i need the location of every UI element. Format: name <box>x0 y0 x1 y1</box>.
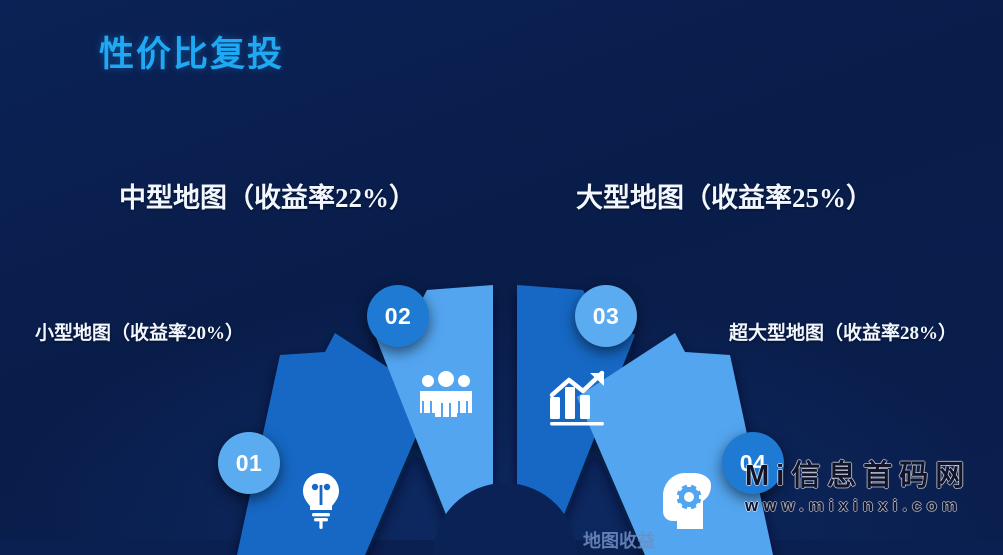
badge-number-02[interactable]: 02 <box>367 285 429 347</box>
bottom-caption: 地图收益 <box>583 527 655 553</box>
badge-04-label: 04 <box>740 450 767 477</box>
badge-03-label: 03 <box>593 303 620 330</box>
radial-fan-diagram <box>175 255 835 555</box>
label-medium-map: 中型地图（收益率22%） <box>119 176 416 215</box>
label-large-map: 大型地图（收益率25%） <box>576 176 873 215</box>
badge-number-04[interactable]: 04 <box>722 432 784 494</box>
badge-01-label: 01 <box>236 450 263 477</box>
badge-02-label: 02 <box>385 303 412 330</box>
page-title: 性价比复投 <box>99 26 284 77</box>
badge-number-01[interactable]: 01 <box>218 432 280 494</box>
slide-canvas: 性价比复投 中型地图（收益率22%） 大型地图（收益率25%） 小型地图（收益率… <box>0 0 1003 540</box>
group-icon <box>420 371 472 417</box>
badge-number-03[interactable]: 03 <box>575 285 637 347</box>
